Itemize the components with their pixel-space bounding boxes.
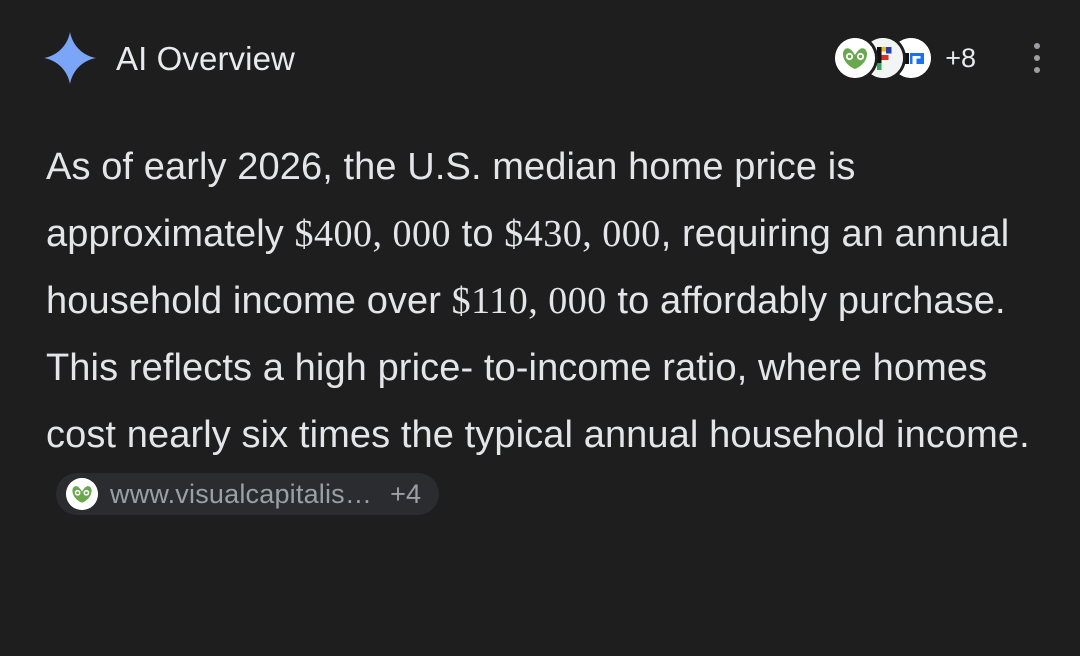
more-options-kebab-icon[interactable] xyxy=(1024,38,1050,78)
citation-favicon-icon xyxy=(66,478,98,510)
citation-url: www.visualcapitalis… xyxy=(110,481,372,508)
source-favicon-stack[interactable] xyxy=(835,38,931,78)
header-right-group: +8 xyxy=(835,38,1050,78)
body-text-part-2: approximately xyxy=(46,213,295,255)
body-text-part-6: to xyxy=(607,280,650,322)
page-title: AI Overview xyxy=(116,42,295,75)
kebab-dot-2 xyxy=(1034,55,1040,61)
kebab-dot-1 xyxy=(1034,43,1040,49)
median-price-high: $430, 000 xyxy=(504,213,661,255)
header-left-group: AI Overview xyxy=(42,30,295,86)
body-text-part-3: to xyxy=(451,213,504,255)
ai-overview-card: AI Overview xyxy=(0,0,1080,656)
body-text-part-4: , requiring xyxy=(661,213,831,255)
body-text-part-1: As of early 2026, the U.S. median home p… xyxy=(46,146,855,188)
citation-chip[interactable]: www.visualcapitalis…+4 xyxy=(56,473,439,515)
median-price-low: $400, 000 xyxy=(295,213,452,255)
visualcapitalist-favicon[interactable] xyxy=(835,38,875,78)
ai-overview-text: As of early 2026, the U.S. median home p… xyxy=(46,134,1036,536)
body-text-part-9: times the typical annual household xyxy=(299,414,885,456)
citation-extra-count: +4 xyxy=(390,481,421,508)
ai-overview-header: AI Overview xyxy=(42,22,1050,94)
required-income: $110, 000 xyxy=(452,280,607,322)
source-overflow-count[interactable]: +8 xyxy=(945,45,976,72)
body-text-part-10: income. xyxy=(896,414,1030,456)
sparkle-icon xyxy=(42,30,98,86)
kebab-dot-3 xyxy=(1034,67,1040,73)
